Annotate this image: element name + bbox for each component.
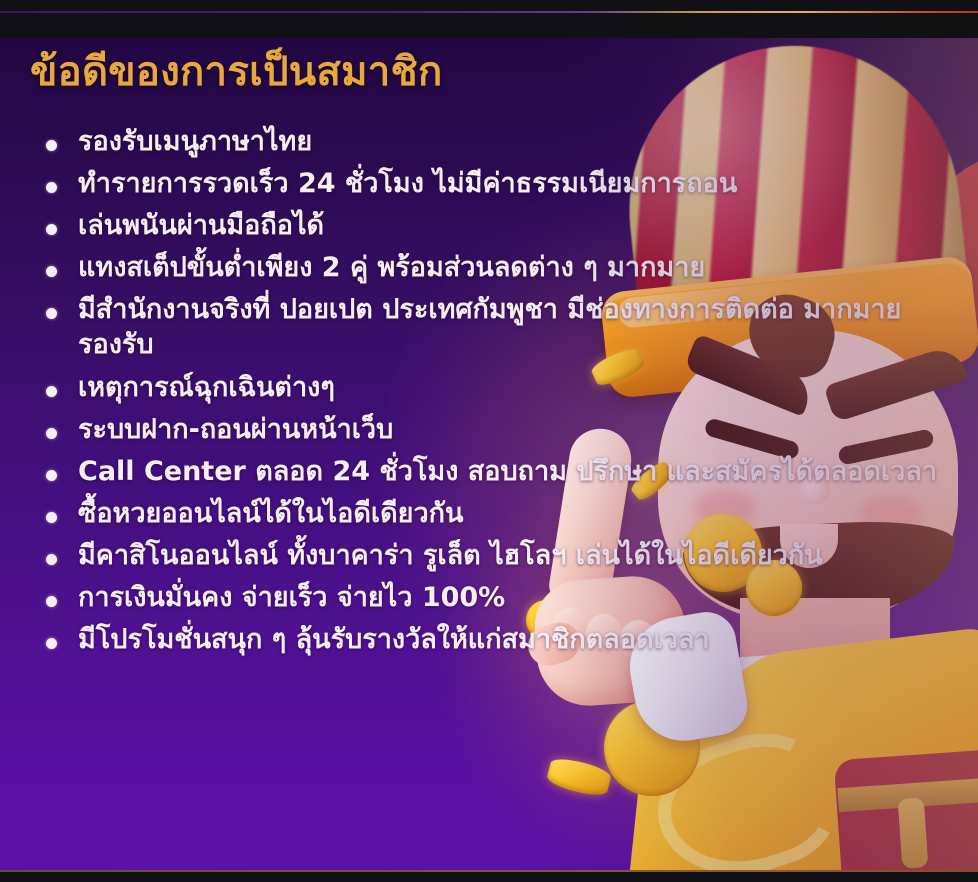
list-item: รองรับเมนูภาษาไทย: [30, 124, 960, 159]
banner-screen: ข้อดีของการเป็นสมาชิก รองรับเมนูภาษาไทย …: [0, 0, 978, 882]
list-item: ระบบฝาก-ถอนผ่านหน้าเว็บ: [30, 412, 960, 447]
list-item: ซื้อหวยออนไลน์ได้ในไอดีเดียวกัน: [30, 496, 960, 531]
list-item: Call Center ตลอด 24 ชั่วโมง สอบถาม ปรึกษ…: [30, 454, 960, 489]
banner-content: ข้อดีของการเป็นสมาชิก รองรับเมนูภาษาไทย …: [0, 38, 978, 872]
top-letterbox-bar: [0, 0, 978, 38]
page-title: ข้อดีของการเป็นสมาชิก: [30, 50, 443, 94]
bottom-accent-line: [0, 870, 978, 872]
list-item: ทำรายการรวดเร็ว 24 ชั่วโมง ไม่มีค่าธรรมเ…: [30, 166, 960, 201]
top-accent-line: [0, 11, 978, 13]
list-item: แทงสเต็ปขั้นต่ำเพียง 2 คู่ พร้อมส่วนลดต่…: [30, 250, 960, 285]
list-item: มีคาสิโนออนไลน์ ทั้งบาคาร่า รูเล็ต ไฮโลฯ…: [30, 538, 960, 573]
list-item: มีโปรโมชั่นสนุก ๆ ลุ้นรับรางวัลให้แก่สมา…: [30, 622, 960, 657]
list-item: การเงินมั่นคง จ่ายเร็ว จ่ายไว 100%: [30, 580, 960, 615]
list-item: เล่นพนันผ่านมือถือได้: [30, 208, 960, 243]
list-item: เหตุการณ์ฉุกเฉินต่างๆ: [30, 370, 960, 405]
bottom-letterbox-bar: [0, 872, 978, 882]
list-item: มีสำนักงานจริงที่ ปอยเปต ประเทศกัมพูชา ม…: [30, 292, 960, 362]
benefits-list: รองรับเมนูภาษาไทย ทำรายการรวดเร็ว 24 ชั่…: [30, 124, 960, 664]
banner-panel: ข้อดีของการเป็นสมาชิก รองรับเมนูภาษาไทย …: [0, 38, 978, 872]
